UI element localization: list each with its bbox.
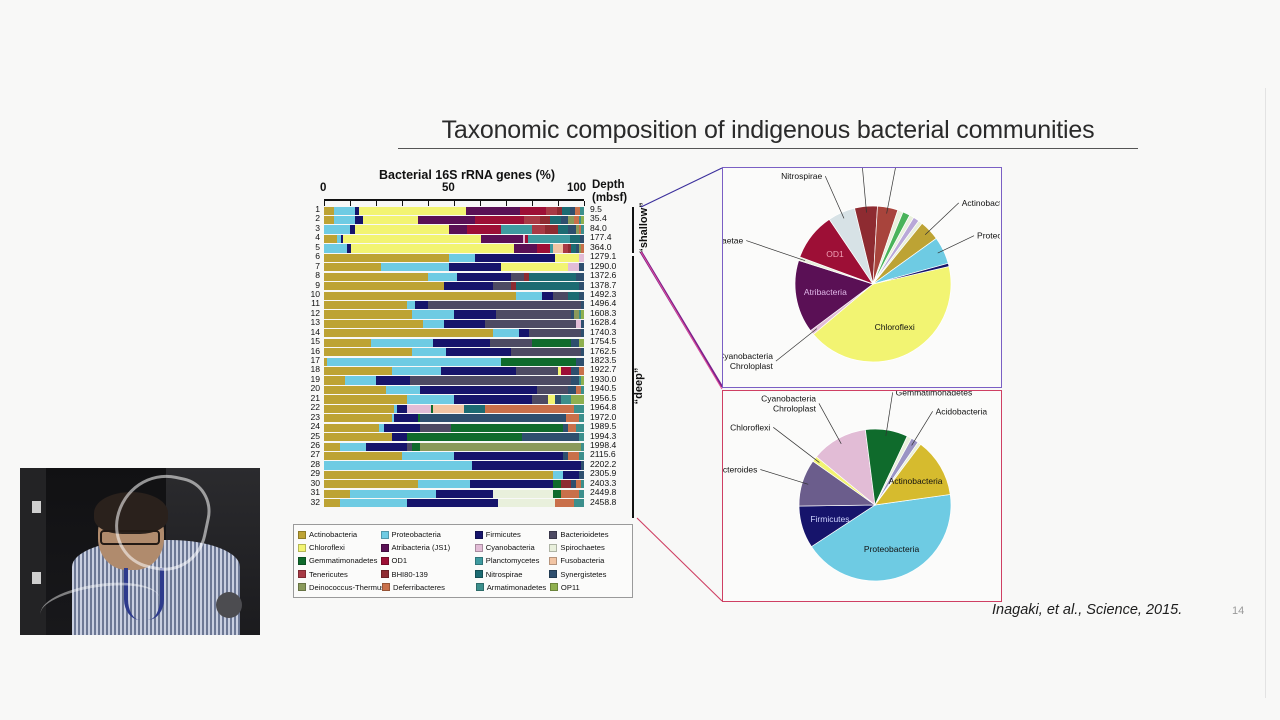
bar-row: 211956.5	[292, 395, 637, 404]
legend-label: Tenericutes	[309, 570, 348, 579]
bar-segment	[579, 292, 584, 300]
stacked-bar	[324, 244, 584, 252]
bar-segment	[555, 499, 573, 507]
page-number: 14	[1232, 605, 1244, 617]
legend-item[interactable]: Synergistetes	[549, 570, 628, 579]
bar-row: 282202.2	[292, 461, 637, 470]
bar-segment	[420, 424, 451, 432]
depth-column-header: Depth (mbsf)	[592, 179, 627, 205]
pie-slice-label: Firmicutes	[810, 514, 849, 524]
bar-segment	[470, 480, 553, 488]
bar-segment	[568, 292, 578, 300]
bar-segment	[561, 367, 571, 375]
bar-segment	[345, 376, 376, 384]
bar-segment	[579, 367, 584, 375]
legend-label: Deinococcus-Thermus	[309, 583, 385, 592]
bar-segment	[580, 207, 584, 215]
bar-segment	[571, 376, 579, 384]
bar-segment	[324, 433, 392, 441]
stacked-bar	[324, 461, 584, 469]
bar-segment	[581, 310, 584, 318]
legend-swatch	[476, 583, 484, 591]
bar-segment	[324, 452, 402, 460]
stacked-bar	[324, 414, 584, 422]
bar-segment	[581, 329, 584, 337]
bar-segment	[324, 310, 412, 318]
pie-slice-label: Defferibacteres	[899, 168, 956, 169]
bar-segment	[386, 386, 420, 394]
bar-segment	[402, 452, 454, 460]
bar-segment	[436, 490, 493, 498]
legend-swatch	[298, 531, 306, 539]
bar-segment	[574, 499, 584, 507]
stacked-bar	[324, 386, 584, 394]
bar-segment	[516, 292, 542, 300]
bar-segment	[516, 367, 558, 375]
bar-segment	[324, 471, 553, 479]
bar-row: 19.5	[292, 206, 637, 215]
bar-segment	[324, 490, 350, 498]
bar-segment	[545, 225, 558, 233]
legend-swatch	[381, 531, 389, 539]
bar-segment	[548, 395, 556, 403]
legend-item[interactable]: OD1	[381, 556, 475, 565]
bar-segment	[324, 376, 345, 384]
bar-segment	[418, 216, 475, 224]
bar-segment	[581, 348, 584, 356]
bar-segment	[566, 414, 579, 422]
pie-slice-label: Proteobacteria	[864, 544, 920, 554]
legend-label: Fusobacteria	[560, 556, 604, 565]
bar-segment	[420, 414, 566, 422]
bar-row: 322458.8	[292, 499, 637, 508]
bar-segment	[451, 424, 563, 432]
depth-header-line1: Depth	[592, 179, 627, 192]
legend-label: Planctomycetes	[486, 556, 540, 565]
bar-segment	[579, 452, 584, 460]
stacked-bar	[324, 367, 584, 375]
bar-segment	[420, 386, 537, 394]
bar-segment	[511, 348, 581, 356]
chart-legend: ActinobacteriaProteobacteriaFirmicutesBa…	[293, 524, 633, 598]
legend-swatch	[298, 544, 306, 552]
bar-segment	[558, 225, 568, 233]
bar-row: 235.4	[292, 215, 637, 224]
bar-segment	[546, 207, 556, 215]
stacked-bar	[324, 424, 584, 432]
bar-row-depth: 2458.8	[590, 498, 616, 507]
stacked-bar	[324, 433, 584, 441]
bar-segment	[324, 414, 392, 422]
legend-swatch	[381, 544, 389, 552]
bar-segment	[324, 244, 347, 252]
legend-item[interactable]: Proteobacteria	[381, 530, 475, 539]
bar-row: 111496.4	[292, 300, 637, 309]
bar-segment	[324, 282, 444, 290]
legend-label: Synergistetes	[560, 570, 606, 579]
bar-segment	[553, 471, 563, 479]
bar-row-number: 32	[292, 498, 320, 507]
bar-segment	[498, 499, 555, 507]
bar-segment	[576, 424, 584, 432]
legend-swatch	[381, 570, 389, 578]
shallow-bracket	[632, 207, 634, 253]
stacked-bar	[324, 480, 584, 488]
stacked-bar	[324, 292, 584, 300]
deep-group-label: “deep”	[633, 356, 645, 416]
bar-segment	[519, 329, 529, 337]
bar-segment	[466, 207, 521, 215]
bar-segment	[501, 225, 532, 233]
bar-segment	[340, 443, 366, 451]
bar-segment	[540, 216, 550, 224]
legend-row: GemmatimonadetesOD1PlanctomycetesFusobac…	[298, 554, 628, 567]
stacked-bar	[324, 225, 584, 233]
bar-row: 141740.3	[292, 329, 637, 338]
bar-segment	[449, 225, 467, 233]
bar-segment	[493, 282, 511, 290]
bar-segment	[532, 339, 571, 347]
bar-segment	[412, 310, 454, 318]
stacked-bar	[324, 339, 584, 347]
pie-slice-label: Cyanobacteria	[723, 351, 773, 361]
pie-leader-line	[819, 403, 841, 443]
bar-segment	[407, 301, 415, 309]
bar-segment	[449, 254, 475, 262]
bar-segment	[581, 301, 584, 309]
legend-item[interactable]: Spirochaetes	[549, 543, 628, 552]
bar-segment	[537, 244, 550, 252]
legend-swatch	[549, 570, 557, 578]
bar-segment	[493, 329, 519, 337]
citation-text: Inagaki, et al., Science, 2015.	[992, 602, 1182, 618]
legend-swatch	[381, 557, 389, 565]
bar-segment	[407, 405, 430, 413]
pie-leader-line	[886, 392, 893, 436]
bar-segment	[537, 386, 568, 394]
bar-segment	[392, 433, 408, 441]
pie-deep-svg: ProteobacteriaFirmicutesActinobacteriaBa…	[723, 391, 1000, 600]
pie-slice-label: Chroloplast	[773, 403, 817, 413]
bar-segment	[532, 395, 548, 403]
bar-segment	[579, 414, 584, 422]
bar-segment	[581, 480, 584, 488]
video-wall-clip-lower	[32, 572, 41, 584]
bar-segment	[392, 367, 441, 375]
bar-segment	[327, 358, 501, 366]
legend-label: Chloroflexi	[309, 543, 345, 552]
stacked-bar	[324, 376, 584, 384]
legend-item[interactable]: Bacterioidetes	[549, 530, 628, 539]
microphone	[216, 592, 242, 618]
bar-row: 161762.5	[292, 348, 637, 357]
bar-segment	[550, 216, 560, 224]
pie-leader-line	[887, 168, 897, 214]
bar-segment	[324, 225, 350, 233]
bar-segment	[324, 263, 381, 271]
stacked-bar	[324, 348, 584, 356]
legend-label: Actinobacteria	[309, 530, 357, 539]
pie-slice-label: Acidobacteria	[936, 406, 988, 416]
pie-leader-line	[776, 329, 817, 361]
bar-segment	[579, 282, 584, 290]
bar-segment	[334, 207, 355, 215]
bar-segment	[418, 480, 470, 488]
legend-label: Spirochaetes	[560, 543, 604, 552]
legend-row: ChloroflexiAtribacteria (JS1)Cyanobacter…	[298, 541, 628, 554]
bar-row: 101492.3	[292, 291, 637, 300]
bar-row: 191930.0	[292, 376, 637, 385]
pie-slice-label: OD1	[826, 249, 844, 259]
bar-segment	[324, 395, 407, 403]
bar-row: 312449.8	[292, 489, 637, 498]
bar-segment	[324, 273, 428, 281]
bar-segment	[568, 452, 578, 460]
bar-segment	[581, 244, 584, 252]
legend-item[interactable]: Firmicutes	[475, 530, 550, 539]
bar-segment	[324, 235, 337, 243]
bar-segment	[324, 386, 386, 394]
bar-segment	[553, 292, 569, 300]
bar-segment	[457, 273, 512, 281]
bar-segment	[324, 480, 418, 488]
legend-label: Armatimonadetes	[487, 583, 547, 592]
bar-segment	[454, 310, 496, 318]
legend-label: Gemmatimonadetes	[309, 556, 377, 565]
legend-label: Bacterioidetes	[560, 530, 608, 539]
pie-slice-label: Nitrospirae	[781, 171, 822, 181]
bar-segment	[561, 216, 569, 224]
pie-slice-label: Chloroflexi	[730, 422, 770, 432]
bar-segment	[355, 216, 363, 224]
bar-segment	[542, 292, 552, 300]
stacked-bar	[324, 216, 584, 224]
bar-segment	[579, 433, 584, 441]
legend-row: ActinobacteriaProteobacteriaFirmicutesBa…	[298, 528, 628, 541]
pie-leader-line	[773, 427, 819, 462]
x-axis-tick-50: 50	[442, 182, 455, 194]
bar-segment	[522, 433, 579, 441]
pie-slice-label: Cyanobacteria	[761, 393, 816, 403]
legend-swatch	[298, 557, 306, 565]
legend-item[interactable]: Gemmatimonadetes	[298, 556, 381, 565]
bar-segment	[324, 254, 449, 262]
bar-segment	[528, 235, 570, 243]
legend-item[interactable]: OP11	[550, 583, 628, 592]
bar-segment	[571, 395, 584, 403]
bar-segment	[444, 320, 486, 328]
bar-row: 231972.0	[292, 414, 637, 423]
pie-slice-label: Chloroflexi	[875, 322, 915, 332]
bar-row: 221964.8	[292, 404, 637, 413]
bar-segment	[532, 225, 545, 233]
bar-segment	[520, 207, 546, 215]
bar-segment	[449, 263, 501, 271]
bar-segment	[553, 480, 561, 488]
stacked-bar	[324, 320, 584, 328]
bar-segment	[581, 320, 584, 328]
bar-segment	[446, 348, 511, 356]
stacked-bar	[324, 443, 584, 451]
bar-segment	[324, 216, 334, 224]
bar-segment	[412, 348, 446, 356]
bar-segment	[511, 273, 524, 281]
bar-segment	[514, 244, 537, 252]
bar-segment	[371, 339, 433, 347]
bar-segment	[376, 376, 410, 384]
legend-item[interactable]: Atribacteria (JS1)	[381, 543, 475, 552]
stacked-bar	[324, 263, 584, 271]
stacked-bar	[324, 310, 584, 318]
legend-label: Atribacteria (JS1)	[392, 543, 451, 552]
pie-leader-line	[938, 236, 974, 253]
bar-segment	[407, 395, 454, 403]
bar-segment	[410, 376, 571, 384]
stacked-bar	[324, 452, 584, 460]
bar-row: 241989.5	[292, 423, 637, 432]
legend-item[interactable]: Fusobacteria	[549, 556, 628, 565]
stacked-bar	[324, 395, 584, 403]
bar-segment	[529, 273, 576, 281]
bar-row: 251994.3	[292, 433, 637, 442]
bar-segment	[394, 414, 417, 422]
bar-segment	[579, 490, 584, 498]
bar-segment	[366, 443, 408, 451]
legend-swatch	[475, 570, 483, 578]
bar-segment	[516, 282, 578, 290]
bar-segment	[571, 367, 579, 375]
bar-row: 5364.0	[292, 244, 637, 253]
legend-label: Nitrospirae	[486, 570, 523, 579]
legend-item[interactable]: Actinobacteria	[298, 530, 381, 539]
bar-row: 302403.3	[292, 480, 637, 489]
legend-row: TenericutesBHI80-139NitrospiraeSynergist…	[298, 568, 628, 581]
bar-segment	[501, 358, 576, 366]
legend-item[interactable]: Cyanobacteria	[475, 543, 550, 552]
bar-row: 81372.6	[292, 272, 637, 281]
legend-label: Firmicutes	[486, 530, 521, 539]
bar-row: 201940.5	[292, 385, 637, 394]
bar-segment	[581, 216, 584, 224]
bar-segment	[433, 405, 464, 413]
bar-segment	[553, 490, 561, 498]
bar-segment	[581, 225, 584, 233]
legend-label: OP11	[561, 583, 580, 592]
pie-leader-line	[825, 176, 844, 218]
legend-swatch	[549, 531, 557, 539]
pie-chart-shallow: ChloroflexiAtribacteriaOD1CyanobacteriaC…	[722, 167, 1002, 388]
bar-row: 384.0	[292, 225, 637, 234]
legend-item[interactable]: Nitrospirae	[475, 570, 550, 579]
legend-item[interactable]: Deinococcus-Thermus	[298, 583, 382, 592]
bar-segment	[351, 244, 514, 252]
bar-segment	[524, 216, 540, 224]
bar-row: 171823.5	[292, 357, 637, 366]
video-wall-clip-upper	[32, 501, 41, 513]
legend-swatch	[549, 557, 557, 565]
presenter-video-inset[interactable]	[20, 468, 260, 635]
bar-segment	[324, 367, 392, 375]
bar-segment	[324, 292, 516, 300]
pie-slice-label: Actinobacteria	[889, 476, 943, 486]
legend-label: Proteobacteria	[392, 530, 441, 539]
bar-row: 71290.0	[292, 263, 637, 272]
bar-segment	[579, 254, 584, 262]
bar-segment	[407, 499, 498, 507]
pie-leader-line	[912, 411, 933, 445]
bar-segment	[581, 443, 584, 451]
bar-segment	[381, 263, 449, 271]
bar-segment	[472, 461, 581, 469]
bar-segment	[334, 216, 355, 224]
bar-row: 61279.1	[292, 253, 637, 262]
bar-segment	[581, 461, 584, 469]
bar-row: 181922.7	[292, 366, 637, 375]
legend-item[interactable]: BHI80-139	[381, 570, 475, 579]
pie-slice-label: Proteobacteria	[977, 231, 1000, 241]
bar-segment	[576, 358, 584, 366]
legend-item[interactable]: Armatimonadetes	[476, 583, 550, 592]
bar-segment	[324, 207, 334, 215]
pie-chart-deep: ProteobacteriaFirmicutesActinobacteriaBa…	[722, 390, 1002, 602]
bar-segment	[475, 254, 556, 262]
bar-row: 4177.4	[292, 234, 637, 243]
bar-segment	[415, 301, 428, 309]
bar-row: 261998.4	[292, 442, 637, 451]
legend-item[interactable]: Chloroflexi	[298, 543, 381, 552]
bar-row: 151754.5	[292, 338, 637, 347]
pie-leader-line	[760, 470, 808, 485]
bar-segment	[441, 367, 516, 375]
legend-swatch	[549, 544, 557, 552]
stacked-bar	[324, 282, 584, 290]
bar-row: 121608.3	[292, 310, 637, 319]
bar-chart-title: Bacterial 16S rRNA genes (%)	[322, 168, 612, 182]
bar-segment	[324, 499, 340, 507]
bar-segment	[428, 301, 581, 309]
bar-segment	[359, 207, 466, 215]
pie-slice-label: Gemmatimonadetes	[896, 391, 973, 397]
bar-segment	[576, 273, 584, 281]
slide-canvas: Taxonomic composition of indigenous bact…	[0, 0, 1280, 720]
bar-segment	[568, 424, 576, 432]
bar-segment	[563, 471, 579, 479]
legend-item[interactable]: Planctomycetes	[475, 556, 550, 565]
legend-swatch	[475, 544, 483, 552]
legend-item[interactable]: Tenericutes	[298, 570, 381, 579]
bar-segment	[433, 339, 490, 347]
bar-segment	[324, 348, 412, 356]
bar-segment	[501, 263, 569, 271]
bar-segment	[561, 395, 571, 403]
bar-segment	[454, 452, 563, 460]
bar-segment	[574, 405, 584, 413]
stacked-bar	[324, 273, 584, 281]
pie-leader-line	[746, 241, 805, 261]
legend-item[interactable]: Deferribacteres	[382, 583, 476, 592]
bar-segment	[562, 207, 570, 215]
stacked-bar	[324, 235, 584, 243]
stacked-bar	[324, 490, 584, 498]
bar-segment	[324, 461, 472, 469]
bar-segment	[571, 339, 579, 347]
bar-segment	[475, 216, 524, 224]
bar-segment	[324, 320, 423, 328]
stacked-bar	[324, 301, 584, 309]
bar-row: 91378.7	[292, 282, 637, 291]
bar-segment	[490, 339, 532, 347]
legend-swatch	[550, 583, 558, 591]
